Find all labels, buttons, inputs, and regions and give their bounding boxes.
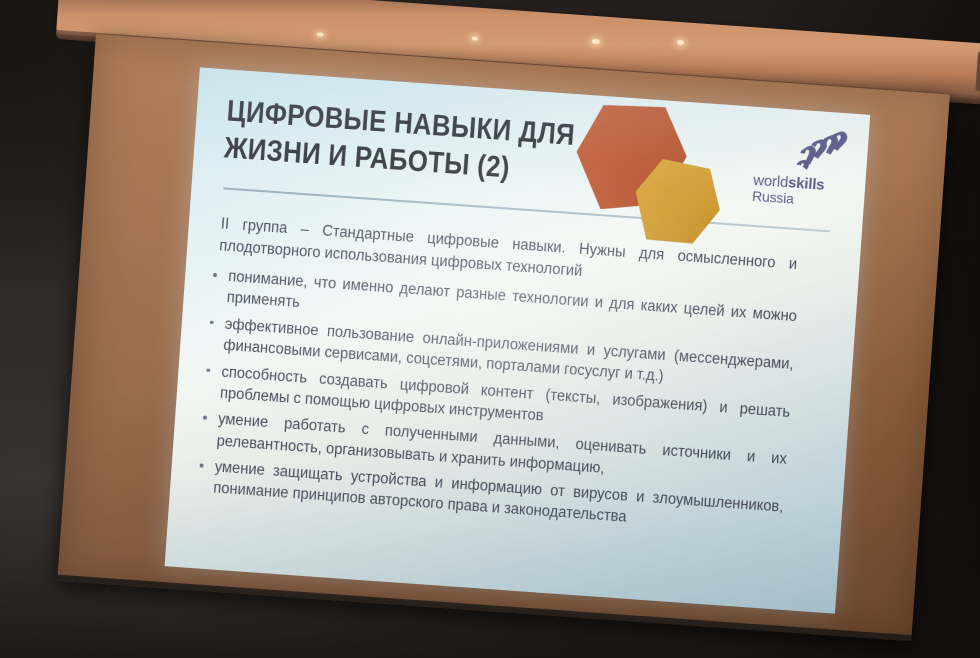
slide-title: ЦИФРОВЫЕ НАВЫКИ ДЛЯ ЖИЗНИ И РАБОТЫ (2) <box>223 93 588 192</box>
light-glint <box>317 32 324 36</box>
slide-bullet-list: понимание, что именно делают разные техн… <box>195 265 797 545</box>
projector-screen: ЦИФРОВЫЕ НАВЫКИ ДЛЯ ЖИЗНИ И РАБОТЫ (2) <box>57 34 950 641</box>
worldskills-hand-icon <box>796 126 851 176</box>
roller-bar-end-cap <box>975 51 980 92</box>
light-glint <box>592 39 600 45</box>
hexagon-gold-shape <box>629 156 726 249</box>
room-scene: ЦИФРОВЫЕ НАВЫКИ ДЛЯ ЖИЗНИ И РАБОТЫ (2) <box>0 0 980 658</box>
worldskills-wordmark: worldskills Russia <box>752 173 858 212</box>
light-glint <box>677 40 684 45</box>
worldskills-russia-logo: worldskills Russia <box>751 123 861 222</box>
light-glint <box>472 36 478 40</box>
projected-slide: ЦИФРОВЫЕ НАВЫКИ ДЛЯ ЖИЗНИ И РАБОТЫ (2) <box>165 67 871 613</box>
hexagon-gold-decor <box>629 156 726 249</box>
